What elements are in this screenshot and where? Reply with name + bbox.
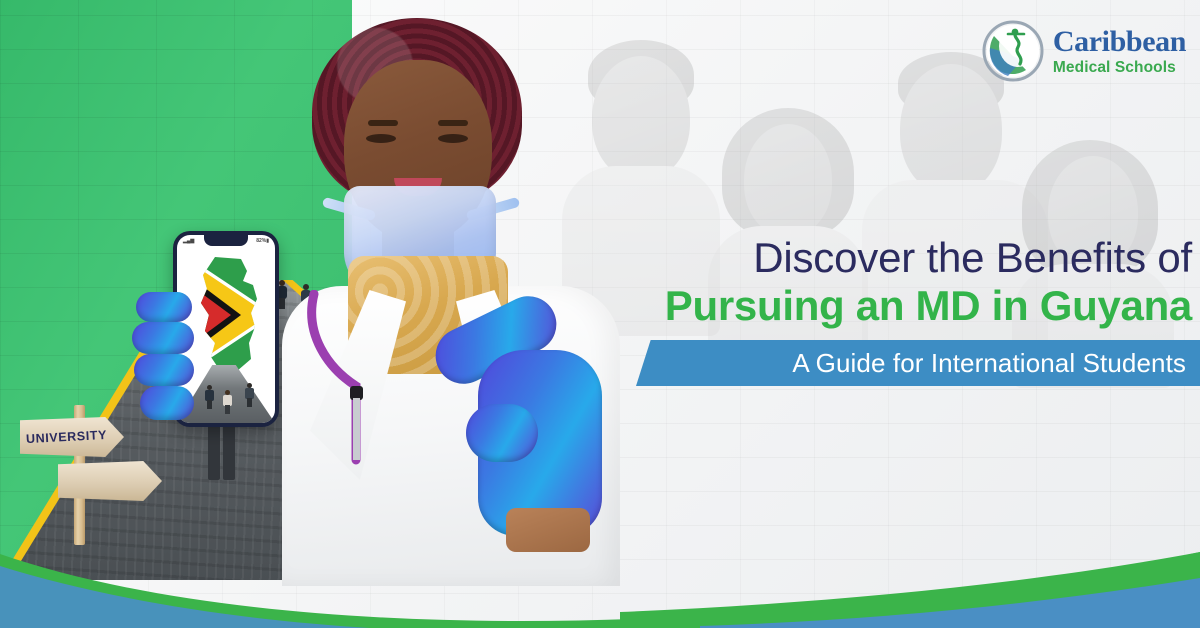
globe-caduceus-emblem-icon: [982, 20, 1044, 82]
headline-block: Discover the Benefits of Pursuing an MD …: [586, 236, 1192, 329]
bottom-wave-decoration: [0, 508, 1200, 628]
guyana-flag-map-graphic: [185, 255, 275, 375]
brand-logo[interactable]: Caribbean Medical Schools: [982, 20, 1186, 82]
headline-line-1: Discover the Benefits of: [586, 236, 1192, 281]
signpost-arm-blank: [58, 461, 162, 501]
logo-title: Caribbean: [1053, 27, 1186, 57]
gloved-hand-holding-phone: [132, 292, 194, 424]
phone-notch: [204, 235, 248, 246]
stethoscope: [298, 290, 418, 480]
subtitle-bar: A Guide for International Students: [636, 340, 1200, 386]
battery-icon: 82%▮: [256, 238, 269, 244]
promotional-banner: UNIVERSITY ▂▄▆ 82%▮: [0, 0, 1200, 628]
headline-line-2: Pursuing an MD in Guyana: [586, 283, 1192, 329]
glove-thumb: [466, 404, 538, 462]
signal-icon: ▂▄▆: [183, 238, 194, 244]
logo-wordmark: Caribbean Medical Schools: [1053, 27, 1186, 76]
signpost-arm-university: UNIVERSITY: [20, 417, 124, 457]
signpost-label: UNIVERSITY: [26, 428, 108, 446]
subtitle-text: A Guide for International Students: [792, 348, 1186, 379]
logo-subtitle: Medical Schools: [1053, 60, 1186, 76]
